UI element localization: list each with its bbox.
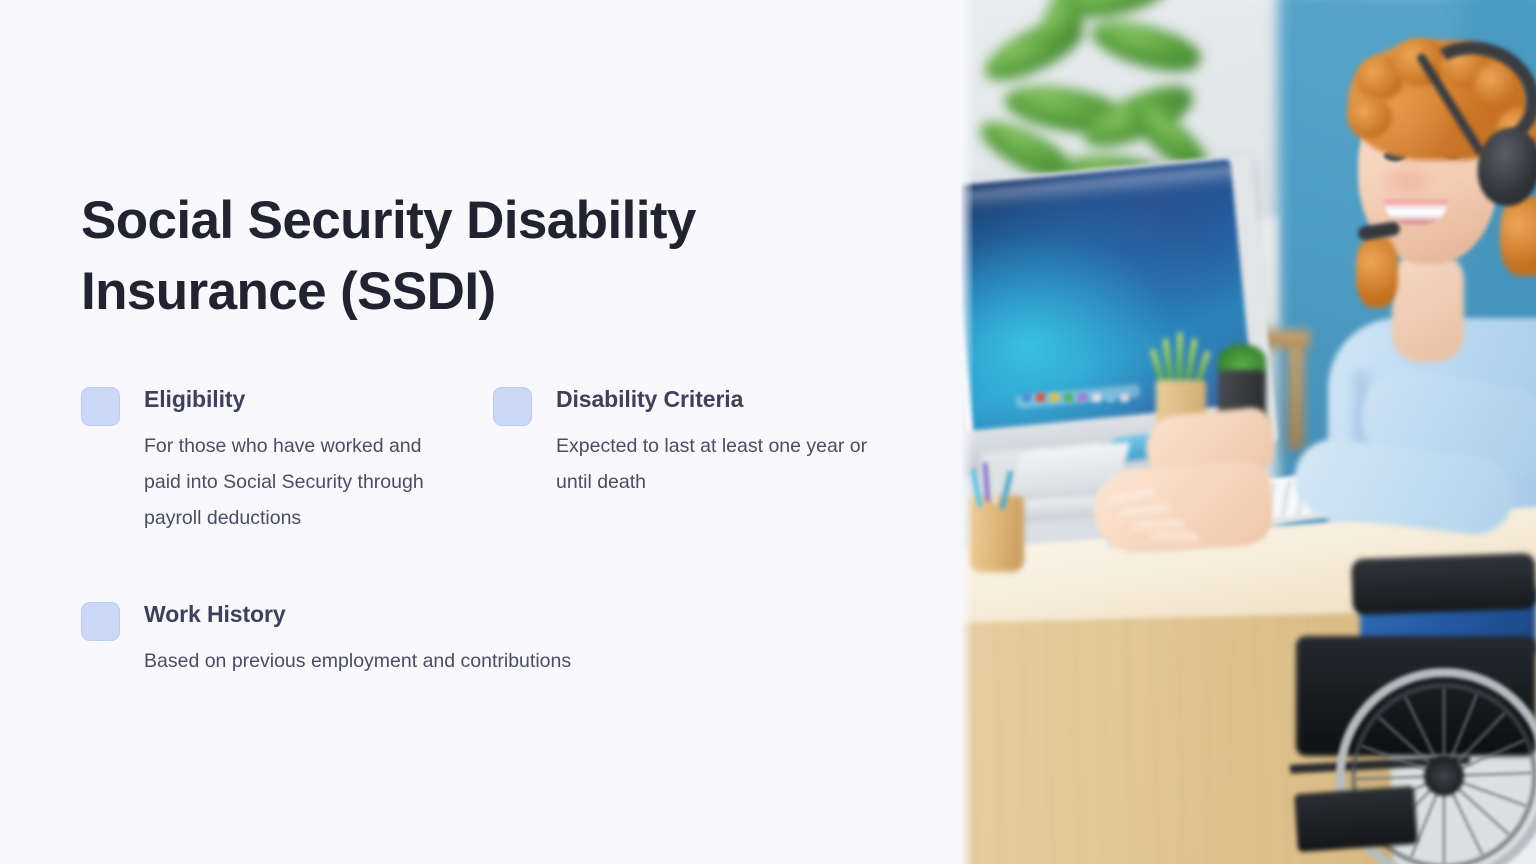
feature-item-work-history: Work History Based on previous employmen… [81,600,931,679]
square-badge-icon [81,387,120,426]
feature-description: For those who have worked and paid into … [144,428,462,536]
wheelchair-hub [1424,756,1464,796]
square-badge-icon [81,602,120,641]
shelf-leg [1288,340,1304,450]
feature-row-bottom: Work History Based on previous employmen… [81,600,931,679]
feature-title: Disability Criteria [556,385,876,413]
content-pane: Social Security Disability Insurance (SS… [0,0,960,864]
person-neck [1392,252,1464,362]
hero-photo [960,0,1536,864]
square-badge-icon [493,387,532,426]
cheek-blush [1384,165,1432,197]
page-title: Social Security Disability Insurance (SS… [81,185,871,327]
feature-list: Eligibility For those who have worked an… [81,385,931,679]
row-spacer [81,536,931,600]
photo-left-fade [960,0,974,864]
feature-row-top: Eligibility For those who have worked an… [81,385,931,536]
feature-title: Work History [144,600,844,628]
feature-description: Expected to last at least one year or un… [556,428,876,500]
wheelchair-backrest [1351,553,1536,615]
feature-body: Work History Based on previous employmen… [144,600,844,679]
feature-body: Eligibility For those who have worked an… [144,385,462,536]
slide-root: Social Security Disability Insurance (SS… [0,0,1536,864]
feature-description: Based on previous employment and contrib… [144,643,844,679]
feature-body: Disability Criteria Expected to last at … [556,385,876,500]
wheelchair-footplate [1294,786,1418,852]
feature-item-eligibility: Eligibility For those who have worked an… [81,385,493,536]
feature-title: Eligibility [144,385,462,413]
pencil-cup [968,496,1024,572]
feature-item-disability-criteria: Disability Criteria Expected to last at … [493,385,913,536]
